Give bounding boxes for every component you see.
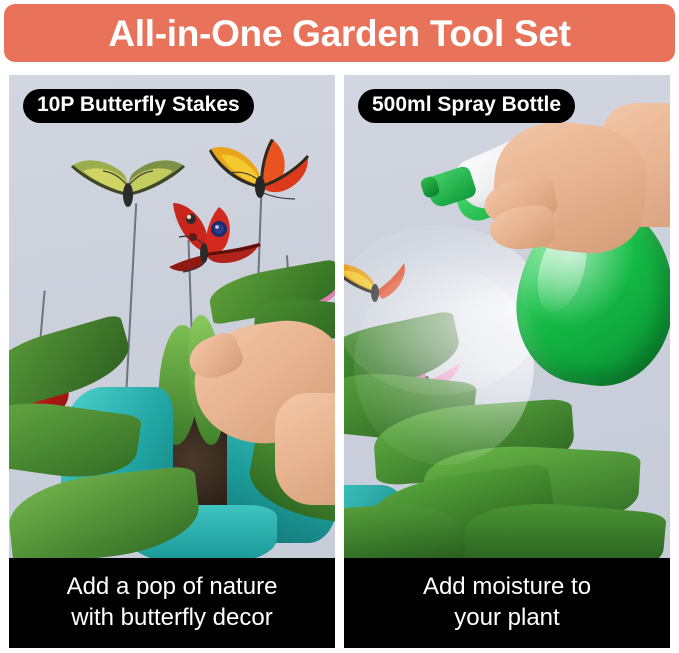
orange-yellow-butterfly-icon [197, 123, 325, 205]
panel-butterfly-stakes: 10P Butterfly Stakes Add a pop of nature… [9, 75, 335, 648]
stake-stem [125, 203, 137, 398]
caption-line-2: with butterfly decor [71, 603, 272, 634]
red-peacock-butterfly-icon [147, 193, 272, 281]
water-mist [354, 265, 534, 465]
tag-pill-spray-bottle: 500ml Spray Bottle [358, 89, 575, 123]
panel-spray-bottle: 500ml Spray Bottle Add moisture to your … [344, 75, 670, 648]
page-title: All-in-One Garden Tool Set [108, 15, 570, 52]
spray-bottle-photo [344, 75, 670, 558]
tag-pill-butterfly-stakes: 10P Butterfly Stakes [23, 89, 254, 123]
hand-wrist [275, 393, 335, 505]
caption-butterfly-stakes: Add a pop of nature with butterfly decor [9, 558, 335, 648]
caption-spray-bottle: Add moisture to your plant [344, 558, 670, 648]
butterfly-stakes-photo [9, 75, 335, 558]
tag-label: 10P Butterfly Stakes [37, 94, 240, 116]
caption-line-1: Add moisture to [423, 572, 591, 603]
panel-row: 10P Butterfly Stakes Add a pop of nature… [0, 75, 679, 653]
caption-line-1: Add a pop of nature [67, 572, 278, 603]
caption-line-2: your plant [454, 603, 559, 634]
tag-label: 500ml Spray Bottle [372, 94, 561, 116]
header-banner: All-in-One Garden Tool Set [4, 4, 675, 62]
